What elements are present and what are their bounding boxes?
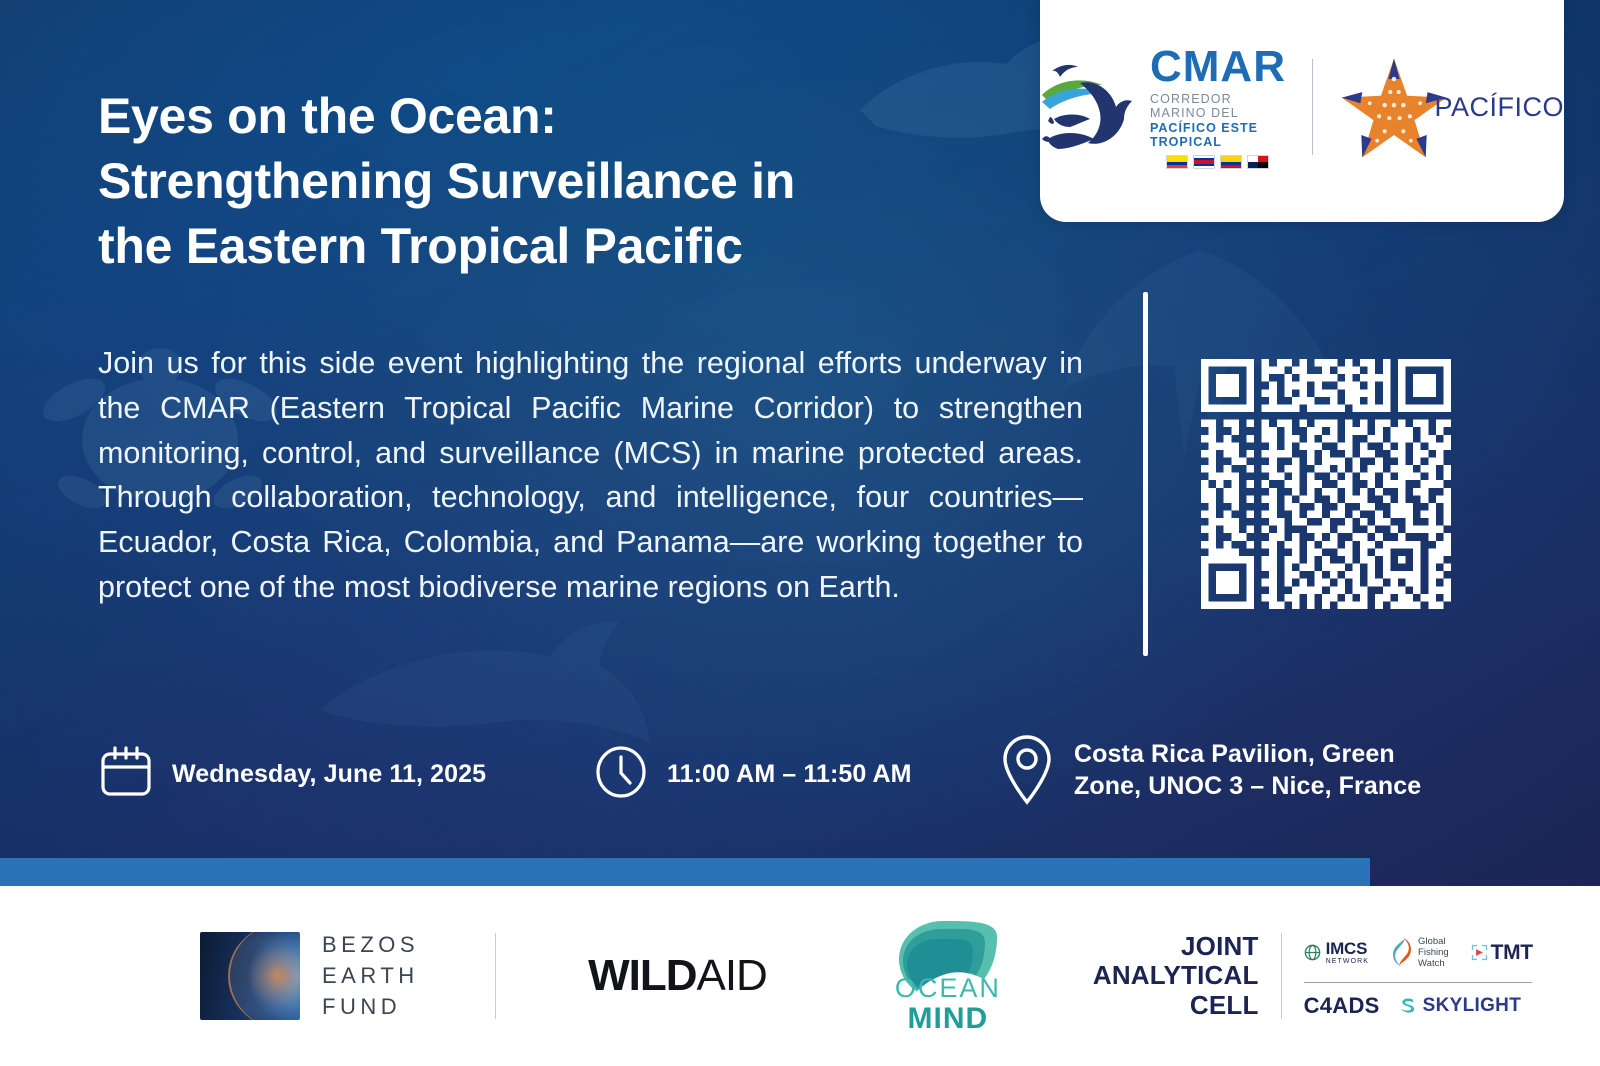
cmar-logo-card: CMAR CORREDOR MARINO DEL PACÍFICO ESTE T… (1040, 0, 1564, 222)
calendar-icon (98, 744, 154, 805)
wildaid-light: AID (696, 951, 766, 1000)
logo-skylight[interactable]: SKYLIGHT (1398, 995, 1521, 1017)
title-line-2: Strengthening Surveillance in (98, 149, 998, 214)
partner-logos: IMCS NETWORK Global Fishing Watch (1282, 930, 1533, 1023)
cmar-wordmark: CMAR CORREDOR MARINO DEL PACÍFICO ESTE T… (1150, 45, 1286, 169)
logo-global-fishing-watch[interactable]: Global Fishing Watch (1391, 936, 1449, 970)
location-line-1: Costa Rica Pavilion, Green (1074, 740, 1395, 768)
sponsor-footer: BEZOS EARTH FUND WILDAID OCEAN MIND JOIN… (0, 886, 1600, 1066)
qr-code-image[interactable] (1201, 359, 1451, 609)
hero-banner: Eyes on the Ocean: Strengthening Surveil… (0, 0, 1600, 886)
accent-bar (0, 858, 1370, 886)
jac-line-1: JOINT (1093, 932, 1259, 961)
bezos-line-1: BEZOS (322, 934, 419, 956)
detail-location: Costa Rica Pavilion, Green Zone, UNOC 3 … (998, 730, 1421, 811)
cmar-subtitle-1: CORREDOR MARINO DEL (1150, 92, 1286, 120)
location-line-2: Zone, UNOC 3 – Nice, France (1074, 772, 1421, 800)
title-line-3: the Eastern Tropical Pacific (98, 214, 998, 279)
bezos-line-2: EARTH (322, 965, 419, 987)
vertical-divider (1143, 292, 1148, 656)
oceanmind-bottom-word: MIND (908, 1004, 989, 1034)
logo-joint-analytical-cell[interactable]: JOINT ANALYTICAL CELL (1093, 932, 1259, 1019)
title-line-1: Eyes on the Ocean: (98, 84, 998, 149)
location-pin-icon (998, 730, 1056, 811)
partner-separator-line (1304, 982, 1532, 983)
gfw-wordmark: Global Fishing Watch (1418, 936, 1449, 970)
clock-icon (593, 744, 649, 805)
logo-bezos-earth-fund[interactable]: BEZOS EARTH FUND (200, 932, 419, 1020)
detail-date-text: Wednesday, June 11, 2025 (172, 759, 486, 790)
detail-time-text: 11:00 AM – 11:50 AM (667, 759, 912, 790)
imcs-name: IMCS (1326, 940, 1369, 957)
partner-row-top: IMCS NETWORK Global Fishing Watch (1304, 930, 1533, 976)
flag-costa-rica (1193, 155, 1215, 169)
jac-line-2: ANALYTICAL (1093, 961, 1259, 990)
flag-colombia (1220, 155, 1242, 169)
imcs-wordmark: IMCS NETWORK (1326, 940, 1369, 965)
skylight-s-icon (1398, 996, 1417, 1015)
skylight-word: SKYLIGHT (1423, 995, 1521, 1017)
bezos-line-3: FUND (322, 996, 419, 1018)
pacifico-logo: PACÍFICO (1338, 51, 1564, 163)
country-flags (1166, 155, 1269, 169)
detail-location-text: Costa Rica Pavilion, Green Zone, UNOC 3 … (1074, 739, 1421, 802)
logo-c4ads[interactable]: C4ADS (1304, 993, 1380, 1019)
footer-divider-1 (495, 933, 496, 1019)
logo-card-divider (1312, 59, 1313, 155)
partner-row-bottom: C4ADS SKYLIGHT (1304, 989, 1533, 1023)
logo-oceanmind[interactable]: OCEAN MIND (875, 919, 1021, 1034)
event-details: Wednesday, June 11, 2025 11:00 AM – 11:5… (98, 726, 1498, 826)
logo-tmt[interactable]: TMT (1471, 941, 1533, 965)
gfw-fish-icon (1391, 937, 1413, 967)
earth-globe-icon (200, 932, 300, 1020)
cmar-word: CMAR (1150, 45, 1286, 89)
tmt-word: TMT (1491, 941, 1533, 965)
logo-wildaid[interactable]: WILDAID (588, 954, 767, 998)
cmar-marine-life-mark (1040, 55, 1136, 159)
jac-line-3: CELL (1093, 991, 1259, 1020)
gfw-line-1: Global (1418, 936, 1449, 947)
flag-panama (1247, 155, 1269, 169)
tmt-bracket-icon (1471, 944, 1488, 961)
oceanmind-top-word: OCEAN (895, 975, 1001, 1002)
wildaid-bold: WILD (588, 951, 696, 1000)
qr-code[interactable] (1201, 359, 1451, 609)
page-title: Eyes on the Ocean: Strengthening Surveil… (98, 84, 998, 279)
flag-ecuador (1166, 155, 1188, 169)
logo-imcs-network[interactable]: IMCS NETWORK (1304, 940, 1369, 965)
imcs-sub: NETWORK (1326, 958, 1369, 965)
gfw-line-2: Fishing (1418, 947, 1449, 958)
bezos-wordmark: BEZOS EARTH FUND (322, 934, 419, 1018)
event-description: Join us for this side event highlighting… (98, 341, 1083, 610)
gfw-line-3: Watch (1418, 958, 1449, 969)
cmar-subtitle-2: PACÍFICO ESTE TROPICAL (1150, 121, 1286, 149)
detail-time: 11:00 AM – 11:50 AM (593, 744, 912, 805)
cmar-logo: CMAR CORREDOR MARINO DEL PACÍFICO ESTE T… (1040, 45, 1286, 169)
pacifico-word: PACÍFICO (1434, 92, 1564, 123)
imcs-globe-icon (1304, 944, 1321, 961)
detail-date: Wednesday, June 11, 2025 (98, 744, 486, 805)
